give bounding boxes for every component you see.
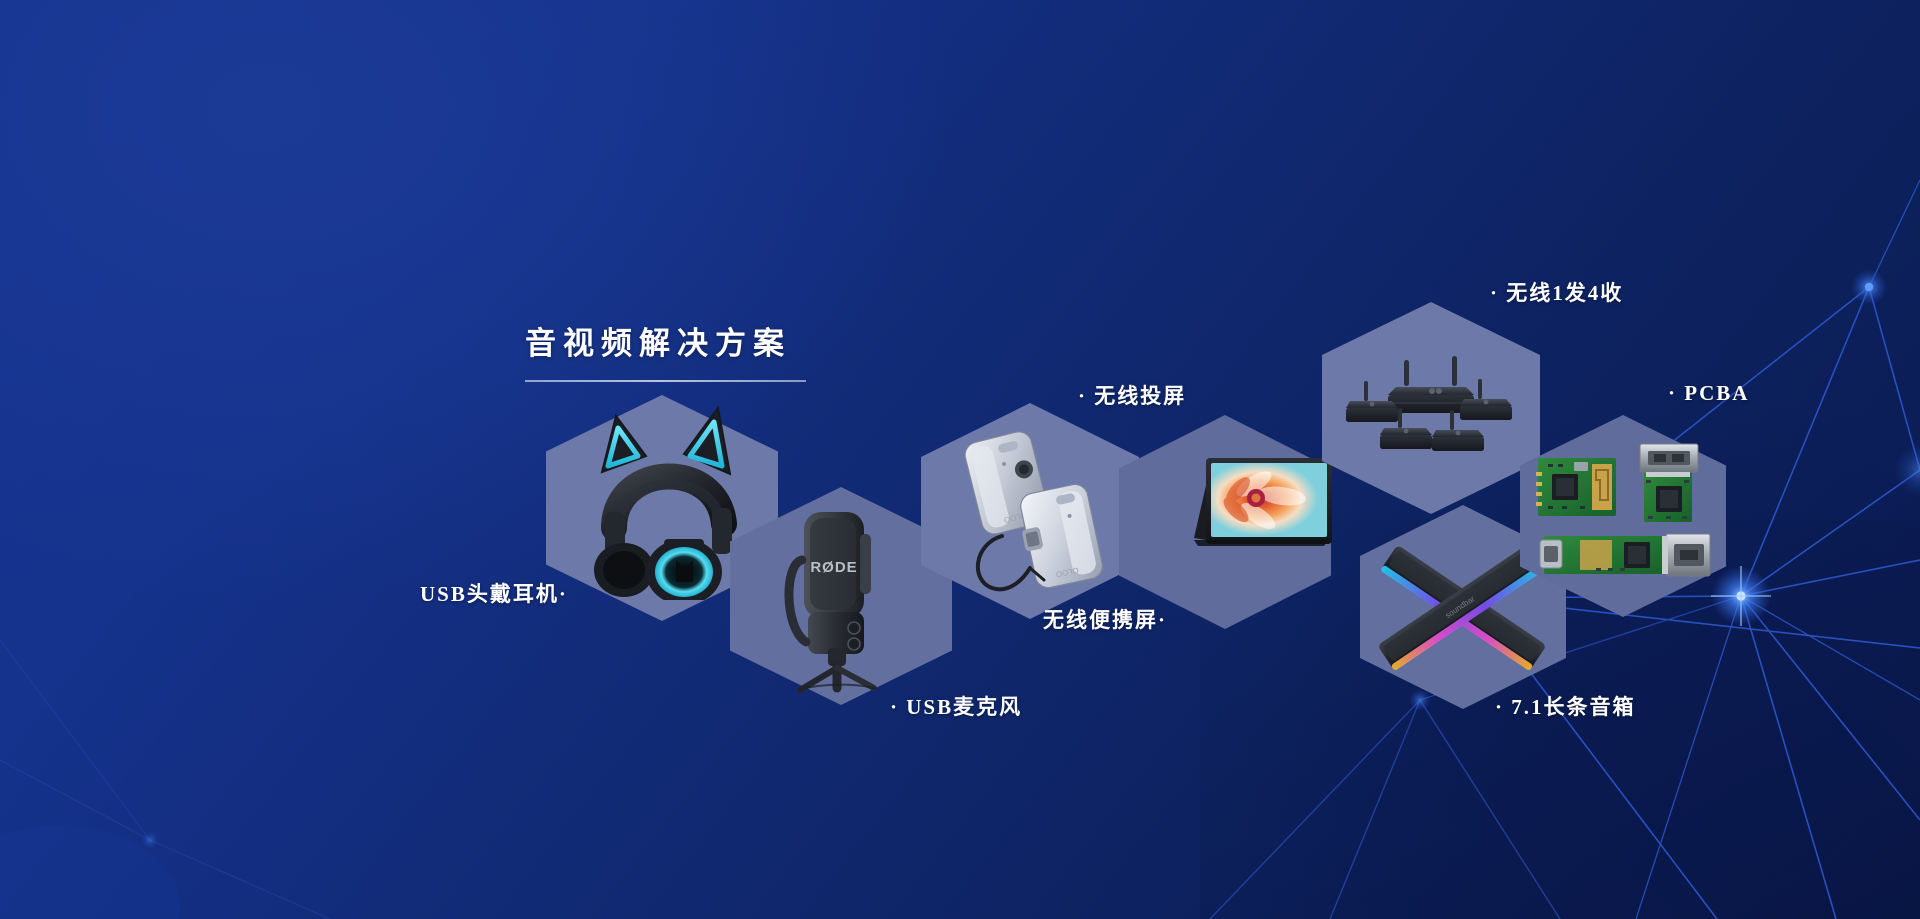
label-pcba: · PCBA	[1668, 381, 1749, 406]
label-portable-screen-text: 无线便携屏	[1043, 608, 1158, 632]
label-wireless-1to4-text: 无线1发4收	[1506, 281, 1623, 305]
label-wireless-1to4: · 无线1发4收	[1490, 277, 1623, 307]
banner-title-block: 音视频解决方案	[525, 318, 806, 382]
label-usb-headset: USB头戴耳机·	[420, 578, 568, 608]
label-usb-headset-bullet: ·	[559, 582, 568, 606]
hex-tile-portable-screen[interactable]	[1119, 415, 1331, 629]
label-wireless-screencast-bullet: ·	[1078, 384, 1087, 408]
label-usb-microphone: · USB麦克风	[890, 691, 1022, 721]
hex-tile-wireless-1to4[interactable]	[1322, 302, 1540, 514]
label-pcba-text: PCBA	[1684, 381, 1749, 405]
label-portable-screen: 无线便携屏·	[1043, 604, 1167, 634]
title-underline	[525, 380, 806, 382]
label-usb-microphone-text: USB麦克风	[906, 695, 1022, 719]
label-wireless-screencast-text: 无线投屏	[1094, 384, 1186, 408]
label-portable-screen-bullet: ·	[1158, 608, 1167, 632]
label-wireless-1to4-bullet: ·	[1490, 281, 1499, 305]
label-soundbar-text: 7.1长条音箱	[1511, 695, 1635, 719]
label-usb-microphone-bullet: ·	[890, 695, 899, 719]
hex-tile-wireless-screencast[interactable]	[921, 403, 1139, 619]
label-soundbar: · 7.1长条音箱	[1495, 691, 1636, 721]
audio-video-solution-banner: 音视频解决方案	[0, 0, 1920, 919]
label-wireless-screencast: · 无线投屏	[1078, 380, 1186, 410]
page-title: 音视频解决方案	[525, 318, 806, 363]
label-usb-headset-text: USB头戴耳机	[420, 582, 559, 606]
label-soundbar-bullet: ·	[1495, 695, 1504, 719]
label-pcba-bullet: ·	[1668, 381, 1677, 405]
